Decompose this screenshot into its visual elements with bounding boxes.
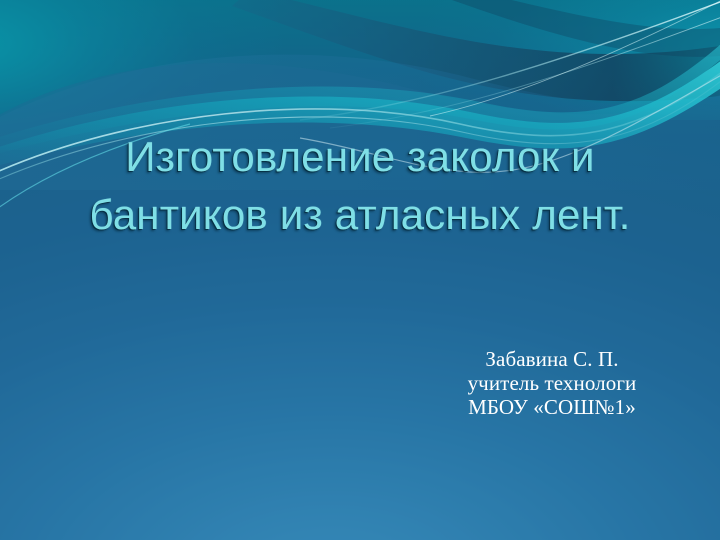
slide-title[interactable]: Изготовление заколок и бантиков из атлас…: [36, 128, 684, 244]
title-line-1: Изготовление заколок и: [36, 128, 684, 186]
title-line-2: бантиков из атласных лент.: [36, 186, 684, 244]
background-wave-decoration: [0, 0, 720, 540]
subtitle-author: Забавина С. П.: [396, 347, 708, 371]
subtitle-role: учитель технологи: [396, 371, 708, 395]
subtitle-organization: МБОУ «СОШ№1»: [396, 395, 708, 419]
title-slide: Изготовление заколок и бантиков из атлас…: [0, 0, 720, 540]
slide-subtitle[interactable]: Забавина С. П. учитель технологи МБОУ «С…: [396, 347, 714, 419]
